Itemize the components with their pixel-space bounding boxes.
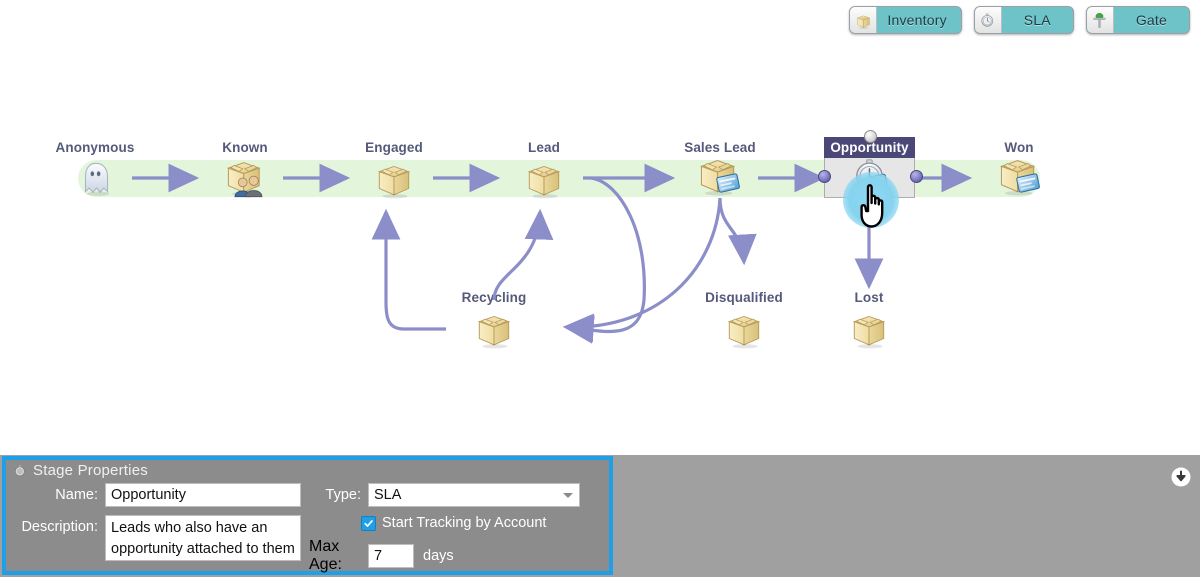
type-label: Type:	[309, 483, 368, 503]
description-label: Description:	[6, 515, 105, 535]
name-label: Name:	[6, 483, 105, 503]
stage-label: Recycling	[446, 291, 542, 305]
toolbar-button-label: SLA	[1002, 12, 1073, 28]
toolbar-button-label: Inventory	[877, 12, 960, 28]
stage-label: Won	[971, 141, 1067, 155]
stage-label: Lost	[821, 291, 917, 305]
stopwatch-icon	[13, 464, 27, 478]
stage-anonymous[interactable]: Anonymous	[47, 141, 143, 162]
max-age-unit: days	[423, 548, 454, 564]
description-row: Description: Leads who also have an oppo…	[6, 515, 309, 561]
type-dropdown[interactable]: SLA	[368, 483, 580, 507]
start-tracking-row: Start Tracking by Account	[361, 515, 609, 531]
toolbar-button-inventory[interactable]: Inventory	[849, 6, 961, 34]
stage-properties-panel[interactable]: Stage Properties Name: Description: Lead…	[2, 456, 613, 575]
stage-icons-layer	[0, 0, 1200, 455]
stopwatch-icon	[975, 7, 1002, 33]
stage-label: Engaged	[346, 141, 442, 155]
stage-label: Disqualified	[696, 291, 792, 305]
check-icon	[364, 519, 373, 528]
max-age-row: Max Age: days	[309, 538, 609, 574]
connector-arrows	[0, 0, 1200, 455]
signpost-icon	[1087, 7, 1114, 33]
stage-disqualified[interactable]: Disqualified	[696, 291, 792, 312]
type-value: SLA	[374, 487, 401, 503]
connector-handle-left[interactable]	[818, 170, 831, 183]
name-input[interactable]	[105, 483, 301, 507]
panel-title-bar: Stage Properties	[6, 460, 609, 481]
toolbar-button-gate[interactable]: Gate	[1086, 6, 1190, 34]
name-row: Name:	[6, 483, 309, 507]
stage-engaged[interactable]: Engaged	[346, 141, 442, 162]
chevron-down-icon	[563, 493, 573, 498]
max-age-label: Max Age:	[309, 538, 368, 574]
pipeline-canvas[interactable]: Anonymous Known Engaged Lead Sales Lead …	[0, 0, 1200, 455]
connector-handle-right[interactable]	[910, 170, 923, 183]
max-age-input[interactable]	[368, 544, 414, 568]
description-textarea[interactable]: Leads who also have an opportunity attac…	[105, 515, 301, 561]
stage-lost[interactable]: Lost	[821, 291, 917, 312]
resize-handle-top[interactable]	[864, 130, 877, 143]
mode-toolbar[interactable]: Inventory SLA Gate	[849, 6, 1190, 34]
box-icon	[850, 7, 877, 33]
stage-label: Anonymous	[47, 141, 143, 155]
stage-won[interactable]: Won	[971, 141, 1067, 162]
stage-sales-lead[interactable]: Sales Lead	[672, 141, 768, 162]
stage-lead[interactable]: Lead	[496, 141, 592, 162]
stage-recycling[interactable]: Recycling	[446, 291, 542, 312]
stage-label: Sales Lead	[672, 141, 768, 155]
stage-label: Lead	[496, 141, 592, 155]
stage-known[interactable]: Known	[197, 141, 293, 162]
toolbar-button-sla[interactable]: SLA	[974, 6, 1074, 34]
start-tracking-checkbox[interactable]	[361, 516, 376, 531]
start-tracking-label: Start Tracking by Account	[382, 515, 546, 531]
toolbar-button-label: Gate	[1114, 12, 1189, 28]
download-circle-icon[interactable]	[1168, 464, 1194, 490]
stage-label: Known	[197, 141, 293, 155]
panel-title: Stage Properties	[33, 462, 148, 479]
hand-cursor-icon	[856, 183, 894, 229]
type-row: Type: SLA	[309, 483, 609, 507]
